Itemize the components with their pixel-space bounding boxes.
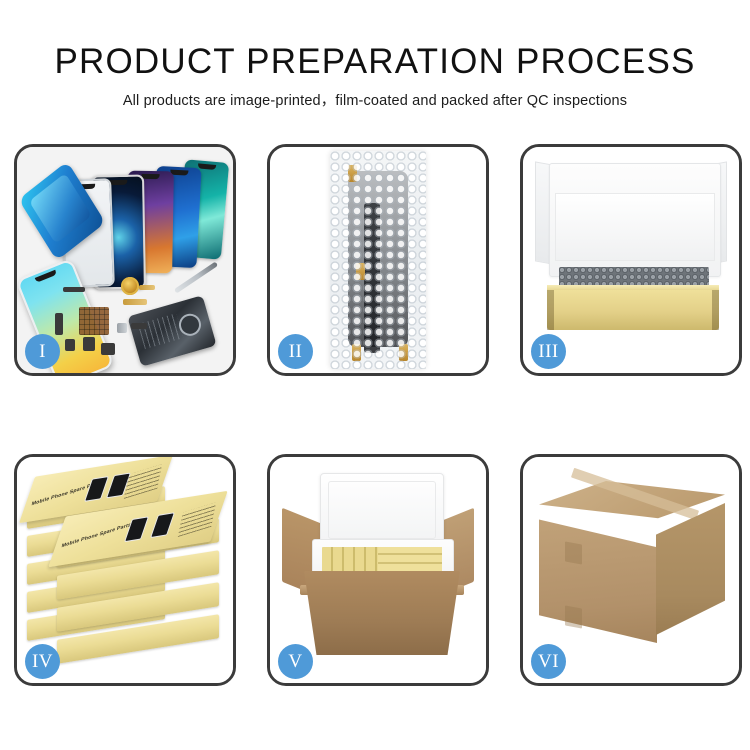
box-label-phone-icon [150,512,175,538]
sealed-carton-icon [539,481,725,657]
copper-shield-icon [79,307,109,335]
step-badge-2: II [278,334,313,369]
step-panel-2: II [267,144,489,376]
step-panel-1: I [14,144,236,376]
wrapped-flex-icon [364,203,380,353]
step-badge-5: V [278,644,313,679]
gold-tab-icon [348,165,357,182]
flex-cable-icon [123,299,147,305]
step-badge-1: I [25,334,60,369]
phone-notch-icon [142,174,160,179]
small-part-icon [65,339,75,351]
foam-lid-icon [320,473,444,547]
step-panel-3: III [520,144,742,376]
product-preparation-infographic: PRODUCT PREPARATION PROCESS All products… [0,0,750,750]
carton-seam-patch [565,606,582,629]
gold-tab-icon [399,344,408,361]
box-label-phone-icon [84,476,109,502]
flex-cable-icon [131,323,147,329]
page-title: PRODUCT PREPARATION PROCESS [0,0,750,82]
kraft-box-stack: Mobile Phone Spare Parts Mobile Phone Sp… [27,471,227,671]
box-label-text: Mobile Phone Spare Parts [61,522,132,550]
gold-tab-icon [352,344,361,361]
step-panel-6: VI [520,454,742,686]
box-label-phone-icon [124,516,149,542]
step-badge-6: VI [531,644,566,679]
process-step-grid: I II [14,144,742,686]
small-part-icon [117,323,127,333]
carton-front-face [539,517,657,643]
small-part-icon [55,313,63,335]
step-badge-3: III [531,334,566,369]
flex-cable-icon [139,285,155,290]
small-part-icon [101,343,115,355]
small-part-icon [83,337,95,351]
carton-side-face [656,503,725,635]
page-subtitle: All products are image-printed，film-coat… [0,82,750,110]
kraft-box-base-icon [547,290,719,330]
carton-seam-patch [565,542,582,565]
white-foam-sheet-icon [555,193,715,261]
flex-cable-icon [63,287,85,292]
box-label-spec-lines [178,502,216,537]
gold-tab-icon [356,263,365,280]
step-panel-4: Mobile Phone Spare Parts Mobile Phone Sp… [14,454,236,686]
box-label-spec-lines [124,464,162,499]
phone-notch-icon [35,270,58,283]
header: PRODUCT PREPARATION PROCESS All products… [0,0,750,110]
step-panel-5: V [267,454,489,686]
vibration-motor-icon [121,277,139,295]
carton-body-icon [304,571,460,655]
phone-notch-icon [198,163,216,170]
bubble-wrap-icon [330,151,426,369]
phone-backplate-icon [127,295,216,366]
step-badge-4: IV [25,644,60,679]
